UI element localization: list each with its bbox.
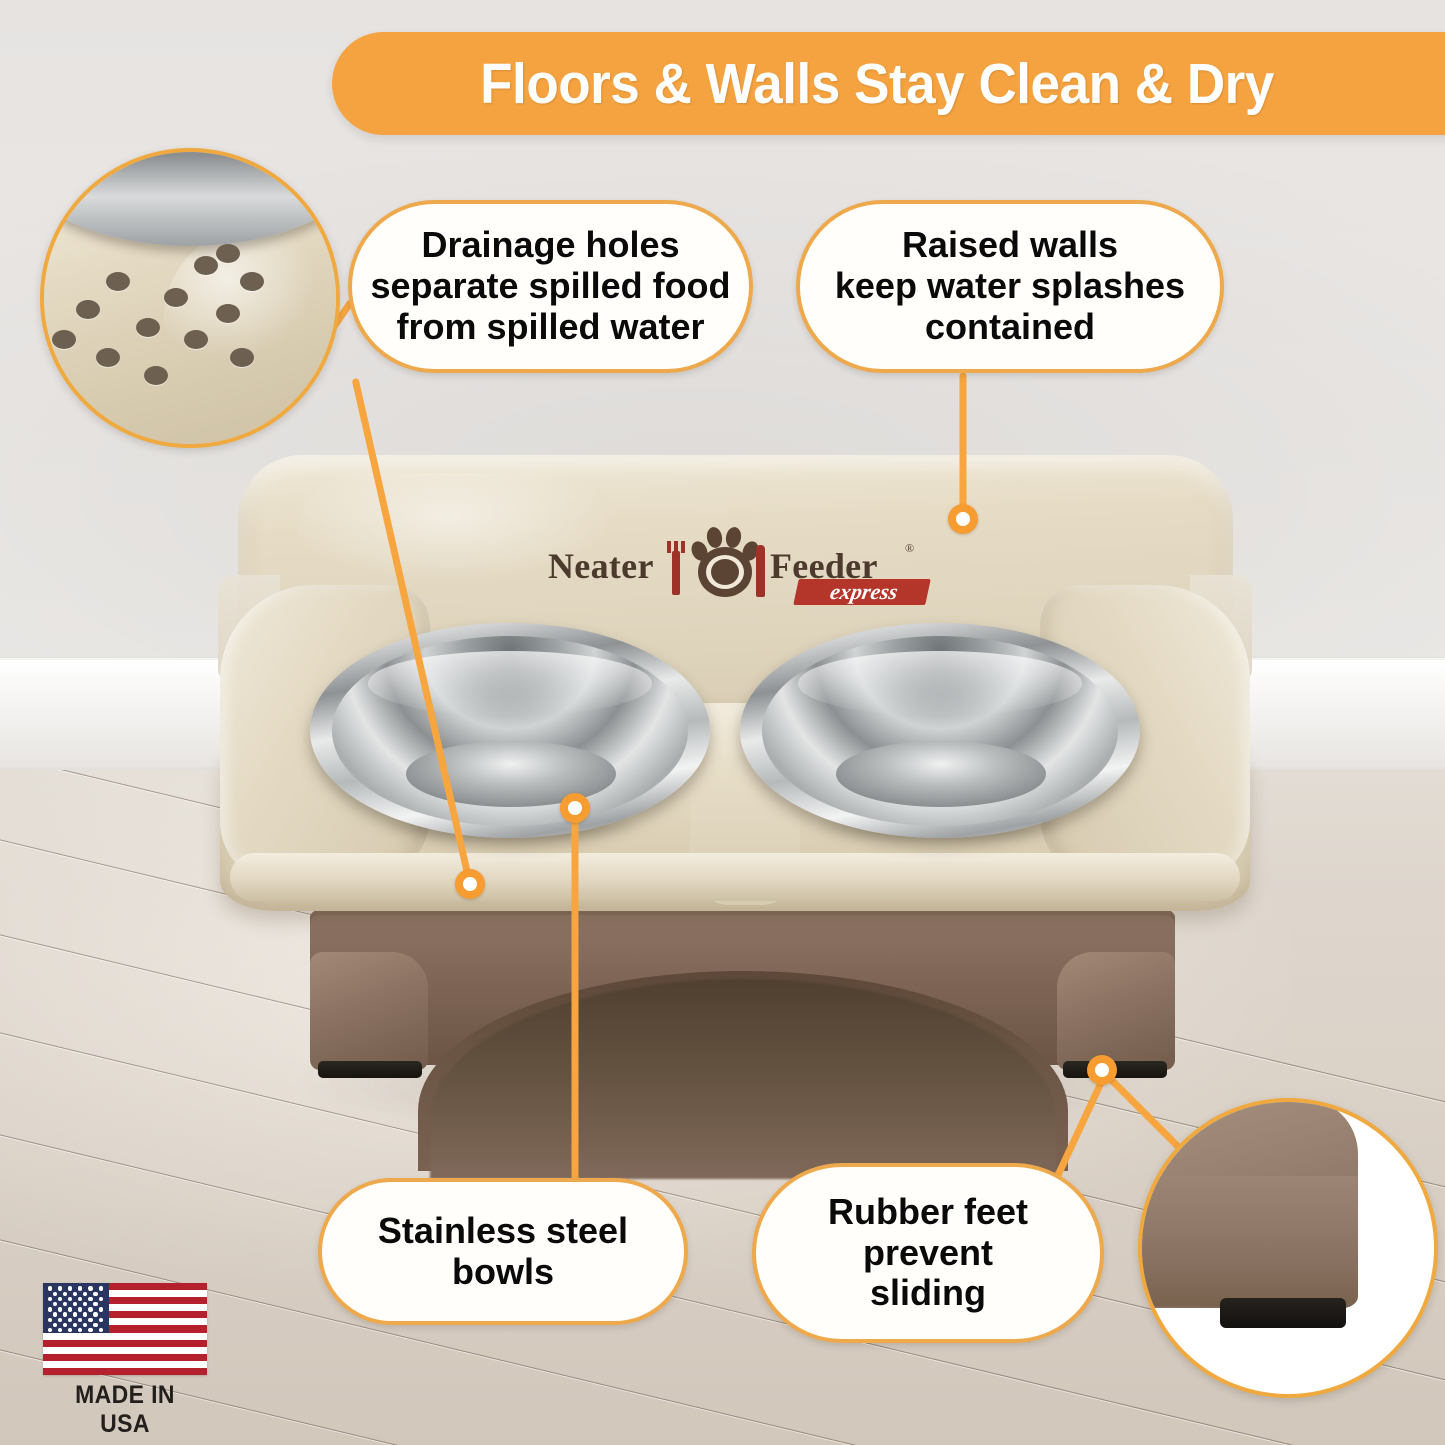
drainage-hole	[96, 348, 120, 367]
flag-star	[68, 1328, 72, 1332]
drainage-hole	[136, 318, 160, 337]
stainless-steel-bowl-right	[740, 623, 1140, 863]
callout-line-1: Drainage holes	[370, 225, 730, 266]
flag-star	[78, 1318, 82, 1322]
flag-star	[83, 1312, 87, 1316]
flag-star	[73, 1292, 77, 1296]
neater-feeder-express-product: Neater Feeder ® express	[200, 455, 1270, 1075]
callout-line-1: Raised walls	[835, 225, 1185, 266]
logo-word-neater: Neater	[548, 545, 654, 587]
callout-line-2: bowls	[378, 1252, 628, 1293]
flag-star	[48, 1318, 52, 1322]
product-logo: Neater Feeder ® express	[548, 523, 938, 613]
header-title: Floors & Walls Stay Clean & Dry	[370, 32, 1384, 135]
product-cream-tray: Neater Feeder ® express	[220, 455, 1250, 925]
callout-line-1: Stainless steel	[378, 1211, 628, 1252]
flag-star	[88, 1307, 92, 1311]
endpoint-dot-stainless-steel-bowls	[560, 793, 590, 823]
us-flag-icon	[43, 1283, 207, 1375]
logo-tagline-express: express	[798, 579, 931, 605]
flag-stripe	[43, 1340, 207, 1347]
infographic-canvas: Neater Feeder ® express	[0, 0, 1445, 1445]
flag-star	[68, 1297, 72, 1301]
flag-star	[88, 1297, 92, 1301]
flag-star	[73, 1312, 77, 1316]
flag-star	[48, 1307, 52, 1311]
callout-line-2: prevent	[828, 1233, 1028, 1274]
drainage-hole	[106, 272, 130, 291]
callout-line-1: Rubber feet	[828, 1192, 1028, 1233]
flag-star	[48, 1297, 52, 1301]
drainage-hole	[144, 366, 168, 385]
flag-star	[93, 1302, 97, 1306]
endpoint-dot-rubber-feet	[1087, 1055, 1117, 1085]
drainage-hole	[164, 288, 188, 307]
flag-star	[93, 1292, 97, 1296]
flag-star	[58, 1328, 62, 1332]
connector-stainless-steel-bowls	[572, 812, 579, 1186]
flag-star	[99, 1328, 103, 1332]
flag-star	[83, 1323, 87, 1327]
flag-star	[63, 1292, 67, 1296]
callout-line-3: from spilled water	[370, 307, 730, 348]
drainage-hole	[52, 330, 76, 349]
flag-star	[83, 1302, 87, 1306]
inset-rubber-pad	[1220, 1298, 1346, 1328]
flag-star	[78, 1307, 82, 1311]
flag-star	[93, 1323, 97, 1327]
flag-star	[78, 1286, 82, 1290]
flag-star	[88, 1286, 92, 1290]
flag-star	[99, 1297, 103, 1301]
endpoint-dot-raised-walls	[948, 504, 978, 534]
flag-stripe	[43, 1368, 207, 1375]
drainage-hole	[184, 330, 208, 349]
callout-rubber-feet: Rubber feet prevent sliding	[752, 1163, 1104, 1343]
flag-star	[48, 1328, 52, 1332]
flag-star	[73, 1323, 77, 1327]
flag-star	[88, 1328, 92, 1332]
callout-line-3: sliding	[828, 1273, 1028, 1314]
drainage-hole	[194, 256, 218, 275]
flag-star	[99, 1307, 103, 1311]
drainage-hole	[240, 272, 264, 291]
flag-canton	[43, 1283, 109, 1333]
callout-drainage-holes: Drainage holes separate spilled food fro…	[348, 200, 753, 373]
connector-raised-walls	[960, 372, 967, 519]
flag-star	[68, 1307, 72, 1311]
made-in-usa-badge: MADE IN USA	[43, 1283, 211, 1415]
flag-star	[93, 1312, 97, 1316]
base-leg-left	[310, 952, 428, 1070]
flag-star	[58, 1297, 62, 1301]
flag-star	[99, 1286, 103, 1290]
flag-star	[68, 1318, 72, 1322]
flag-star	[99, 1318, 103, 1322]
flag-star	[53, 1312, 57, 1316]
flag-star	[73, 1302, 77, 1306]
bowl-bottom-reflection	[836, 741, 1046, 807]
drainage-hole	[216, 304, 240, 323]
rubber-foot-left	[318, 1061, 422, 1078]
flag-star	[53, 1323, 57, 1327]
flag-star	[88, 1318, 92, 1322]
flag-star	[58, 1307, 62, 1311]
flag-star	[63, 1312, 67, 1316]
paw-plate-icon	[690, 523, 760, 597]
flag-star	[53, 1302, 57, 1306]
drainage-hole	[230, 348, 254, 367]
header-banner: Floors & Walls Stay Clean & Dry	[332, 32, 1445, 135]
made-in-usa-label: MADE IN USA	[50, 1381, 201, 1439]
flag-star	[83, 1292, 87, 1296]
callout-raised-walls: Raised walls keep water splashes contain…	[796, 200, 1224, 373]
flag-star	[63, 1302, 67, 1306]
callout-line-2: separate spilled food	[370, 266, 730, 307]
flag-stripe	[43, 1354, 207, 1361]
endpoint-dot-drainage-holes	[455, 869, 485, 899]
fork-icon	[672, 551, 680, 595]
drainage-hole	[216, 244, 240, 263]
knife-icon	[756, 545, 765, 597]
flag-star	[78, 1328, 82, 1332]
stainless-steel-bowl-left	[310, 623, 710, 863]
base-leg-right	[1057, 952, 1175, 1070]
flag-star	[68, 1286, 72, 1290]
callout-line-2: keep water splashes	[835, 266, 1185, 307]
flag-star	[58, 1286, 62, 1290]
rubber-foot-inset-image	[1138, 1098, 1438, 1398]
flag-star	[63, 1323, 67, 1327]
callout-line-3: contained	[835, 307, 1185, 348]
registered-mark: ®	[905, 541, 914, 556]
flag-star	[78, 1297, 82, 1301]
callout-stainless-steel-bowls: Stainless steel bowls	[318, 1178, 688, 1325]
flag-star	[48, 1286, 52, 1290]
flag-star	[58, 1318, 62, 1322]
drainage-hole	[76, 300, 100, 319]
inset-base-leg-lower	[1138, 1176, 1358, 1306]
flag-star	[53, 1292, 57, 1296]
drainage-holes-inset-image	[40, 148, 340, 448]
